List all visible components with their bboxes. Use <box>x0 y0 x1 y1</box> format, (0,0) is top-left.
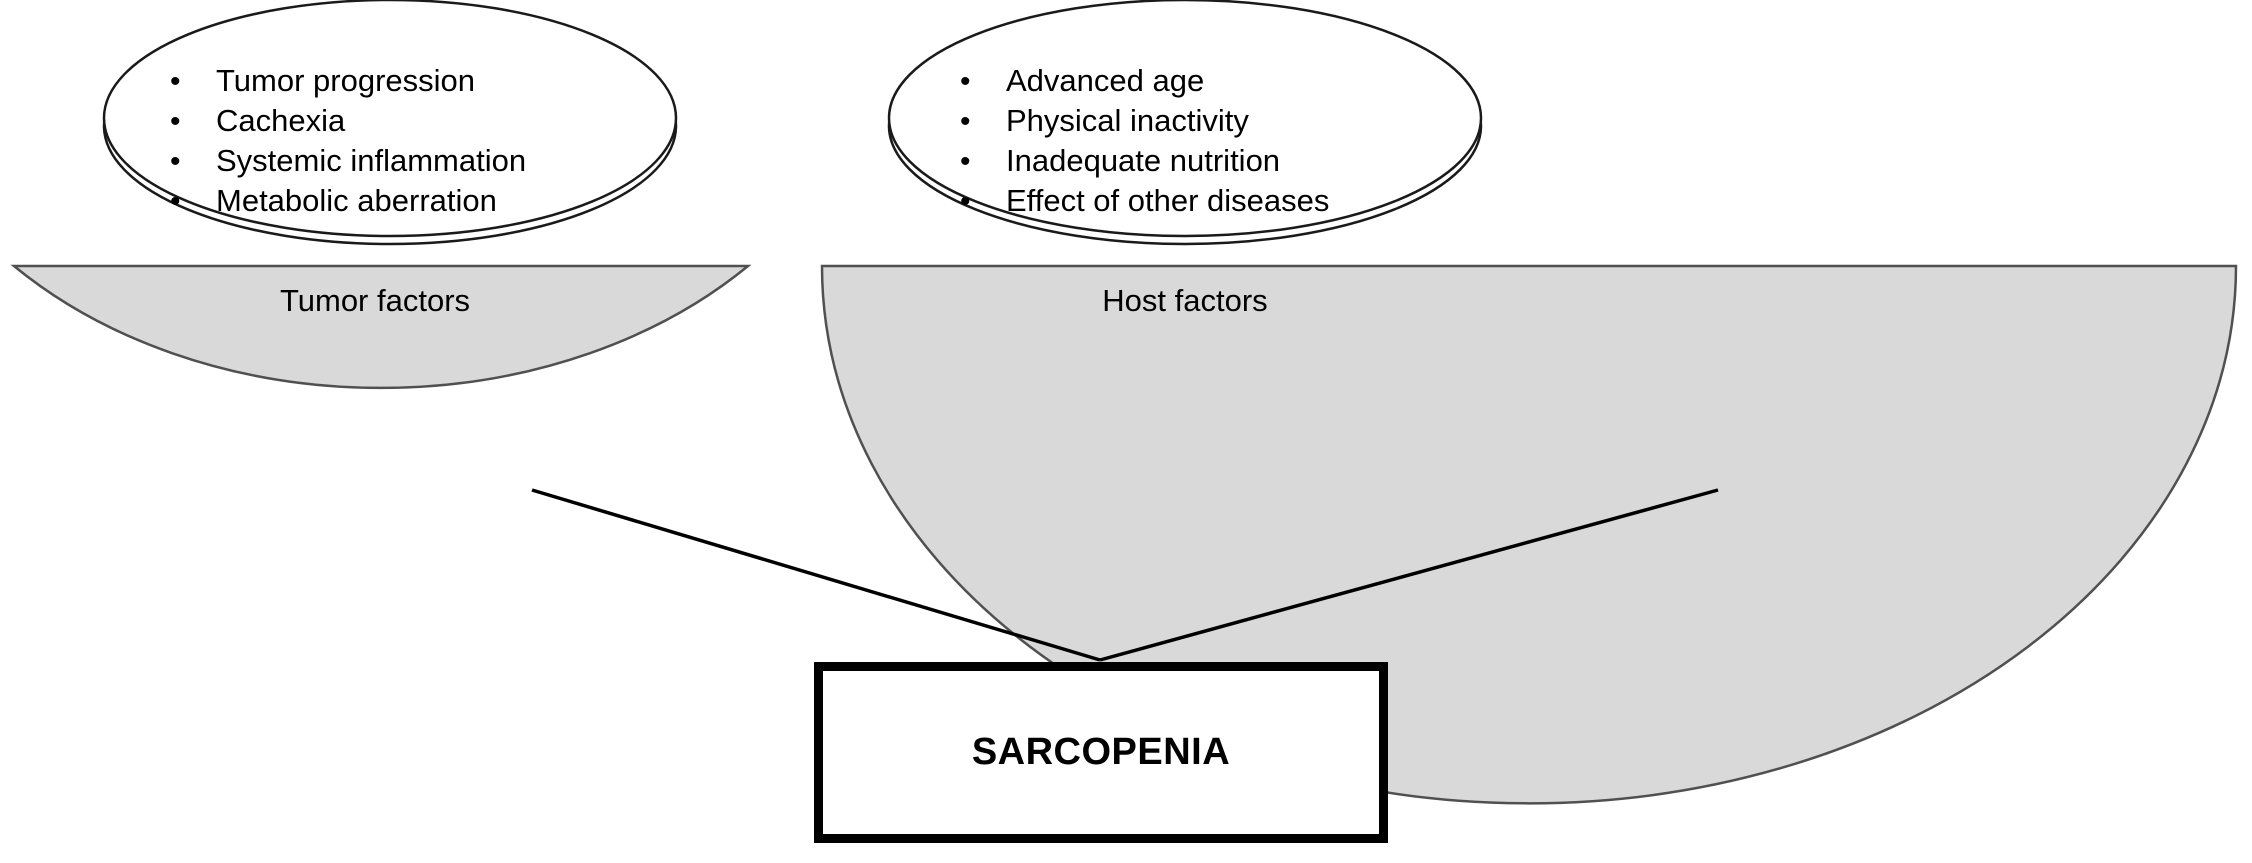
list-item: • Cachexia <box>170 103 526 143</box>
diagram-canvas: • Tumor progression • Cachexia • Systemi… <box>0 0 2252 863</box>
list-item: • Effect of other diseases <box>960 183 1329 223</box>
sarcopenia-outcome-label: SARCOPENIA <box>823 731 1379 774</box>
tumor-factors-list: • Tumor progression • Cachexia • Systemi… <box>170 63 526 223</box>
list-item: • Inadequate nutrition <box>960 143 1329 183</box>
list-item: • Systemic inflammation <box>170 143 526 183</box>
bullet-icon: • <box>960 107 1006 137</box>
bullet-icon: • <box>170 107 216 137</box>
bullet-icon: • <box>960 67 1006 97</box>
host-factors-list: • Advanced age • Physical inactivity • I… <box>960 63 1329 223</box>
list-item: • Physical inactivity <box>960 103 1329 143</box>
host-factors-banner-label: Host factors <box>980 283 1390 319</box>
bullet-icon: • <box>960 147 1006 177</box>
list-item-label: Inadequate nutrition <box>1006 143 1280 179</box>
tumor-factors-banner-label: Tumor factors <box>170 283 580 319</box>
list-item-label: Effect of other diseases <box>1006 183 1329 219</box>
bullet-icon: • <box>960 187 1006 217</box>
list-item-label: Cachexia <box>216 103 345 139</box>
list-item-label: Tumor progression <box>216 63 475 99</box>
list-item-label: Systemic inflammation <box>216 143 526 179</box>
bullet-icon: • <box>170 187 216 217</box>
list-item: • Metabolic aberration <box>170 183 526 223</box>
list-item: • Tumor progression <box>170 63 526 103</box>
list-item-label: Advanced age <box>1006 63 1204 99</box>
bullet-icon: • <box>170 147 216 177</box>
list-item: • Advanced age <box>960 63 1329 103</box>
bullet-icon: • <box>170 67 216 97</box>
list-item-label: Physical inactivity <box>1006 103 1249 139</box>
sarcopenia-outcome-box: SARCOPENIA <box>814 662 1388 843</box>
list-item-label: Metabolic aberration <box>216 183 497 219</box>
